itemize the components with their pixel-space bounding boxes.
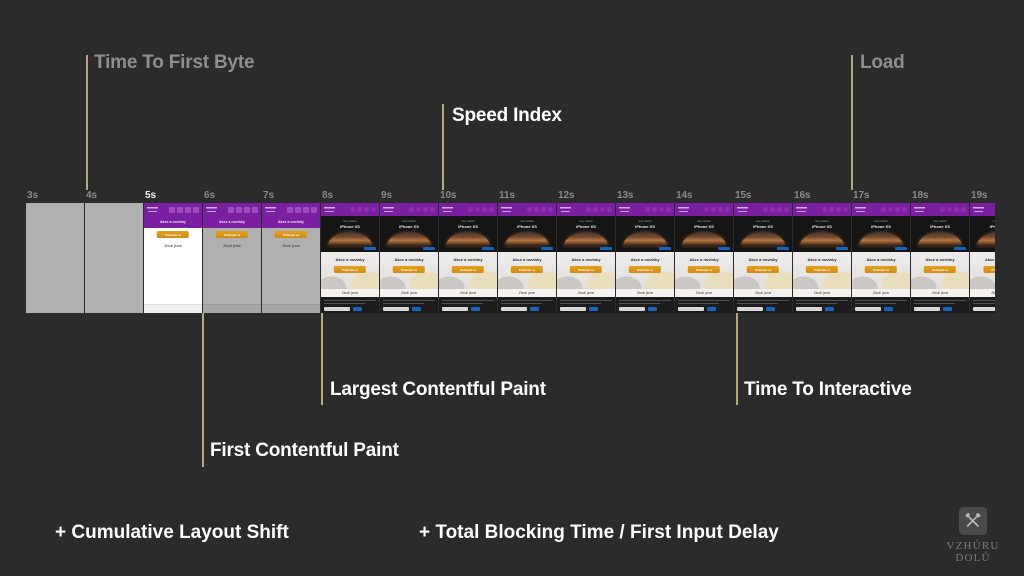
filmstrip-frame-19s[interactable]: nový telefoniPhone XSAkce a novinkyPodív… xyxy=(970,203,995,313)
mini-hero-title: iPhone XS xyxy=(498,224,556,229)
mini-promo-headline: Akce a novinky xyxy=(321,257,379,262)
mini-cart-icon xyxy=(777,207,782,212)
mini-navbar xyxy=(203,203,261,216)
mini-user-icon xyxy=(770,207,775,212)
mini-hero-title: iPhone XS xyxy=(734,224,792,229)
mini-cookie-input[interactable] xyxy=(796,307,822,311)
mini-promo-headline: Akce a novinky xyxy=(852,257,910,262)
mini-navbar xyxy=(144,203,202,216)
mini-promo-subline: Zboží jsme xyxy=(852,289,910,297)
mini-promo-button[interactable]: Podívejte se xyxy=(393,266,425,273)
filmstrip-frame-9s[interactable]: nový telefoniPhone XSAkce a novinkyPodív… xyxy=(380,203,439,313)
filmstrip-frame-4s[interactable] xyxy=(85,203,144,313)
mini-menu-icon xyxy=(607,207,612,212)
mini-hero: nový telefoniPhone XS xyxy=(911,216,969,252)
mini-site-logo-icon xyxy=(560,206,571,214)
ruler-tick-15s: 15s xyxy=(735,190,751,201)
mini-promo-block: Akce a novinkyPodívejte seZboží jsme xyxy=(970,252,995,297)
mini-search-icon xyxy=(287,207,293,213)
timeline-ruler: 3s4s5s6s7s8s9s10s11s12s13s14s15s16s17s18… xyxy=(0,190,1024,204)
marker-line-si xyxy=(442,104,444,190)
mini-promo-button[interactable]: Podívejte se xyxy=(452,266,484,273)
mini-search-icon xyxy=(468,207,473,212)
mini-promo-headline: Akce a novinky xyxy=(675,257,733,262)
mini-promo-button[interactable]: Podívejte se xyxy=(747,266,779,273)
mini-menu-icon xyxy=(548,207,553,212)
mini-promo-subline: Zboží jsme xyxy=(675,289,733,297)
mini-promo-subline: Zboží jsme xyxy=(911,289,969,297)
mini-navbar xyxy=(734,203,792,216)
ruler-tick-3s: 3s xyxy=(27,190,38,201)
mini-hero-kicker: nový telefon xyxy=(793,220,851,223)
mini-menu-icon xyxy=(371,207,376,212)
mini-navbar xyxy=(498,203,556,216)
mini-user-icon xyxy=(593,207,598,212)
mini-hero-cta-button[interactable] xyxy=(718,247,730,251)
marker-line-lcp xyxy=(321,313,323,405)
mini-hero: nový telefoniPhone XS xyxy=(970,216,995,252)
mini-search-icon xyxy=(228,207,234,213)
mini-hero-product-image xyxy=(741,232,785,246)
mini-hero-cta-button[interactable] xyxy=(482,247,494,251)
mini-promo-block: Akce a novinkyPodívejte seZboží jsme xyxy=(852,252,910,297)
mini-hero-product-image xyxy=(564,232,608,246)
filmstrip-frame-18s[interactable]: nový telefoniPhone XSAkce a novinkyPodív… xyxy=(911,203,970,313)
mini-promo-block: Akce a novinkyPodívejte seZboží jsme xyxy=(616,252,674,297)
filmstrip-frame-8s[interactable]: nový telefoniPhone XSAkce a novinkyPodív… xyxy=(321,203,380,313)
mini-hero-title: iPhone XS xyxy=(380,224,438,229)
annotation-label-ttfb: Time To First Byte xyxy=(94,52,254,74)
filmstrip-frame-3s[interactable] xyxy=(26,203,85,313)
mini-cookie-input[interactable] xyxy=(560,307,586,311)
mini-hero-title: iPhone XS xyxy=(557,224,615,229)
mini-promo-headline: Akce a novinky xyxy=(734,257,792,262)
mini-cart-icon xyxy=(303,207,309,213)
mini-promo-subline: Zboží jsme xyxy=(793,289,851,297)
mini-cart-icon xyxy=(185,207,191,213)
mini-cookie-ok-button[interactable] xyxy=(884,307,893,311)
mini-user-icon xyxy=(416,207,421,212)
mini-navbar xyxy=(970,203,995,216)
mini-menu-icon xyxy=(666,207,671,212)
mini-page-footer xyxy=(262,304,320,313)
mini-nav-icons xyxy=(228,207,258,213)
mini-nav-icons xyxy=(409,207,435,212)
mini-menu-icon xyxy=(193,207,199,213)
mini-cookie-input[interactable] xyxy=(737,307,763,311)
mini-nav-icons xyxy=(350,207,376,212)
mini-search-icon xyxy=(822,207,827,212)
ruler-tick-18s: 18s xyxy=(912,190,928,201)
mini-hero-kicker: nový telefon xyxy=(557,220,615,223)
mini-site-logo-icon xyxy=(501,206,512,214)
ruler-tick-13s: 13s xyxy=(617,190,633,201)
mini-cookie-ok-button[interactable] xyxy=(825,307,834,311)
filmstrip[interactable]: Akce a novinkyPodívejte seZboží jsmeAkce… xyxy=(26,203,995,313)
mini-site-logo-icon xyxy=(737,206,748,214)
mini-promo-button[interactable]: Podívejte se xyxy=(924,266,956,273)
ruler-tick-19s: 19s xyxy=(971,190,987,201)
mini-hero-product-image xyxy=(859,232,903,246)
mini-hero-product-image xyxy=(505,232,549,246)
mini-navbar xyxy=(439,203,497,216)
filmstrip-frame-14s[interactable]: nový telefoniPhone XSAkce a novinkyPodív… xyxy=(675,203,734,313)
mini-hero-kicker: nový telefon xyxy=(734,220,792,223)
mini-site-logo-icon xyxy=(914,206,925,214)
mini-nav-icons xyxy=(468,207,494,212)
mini-nav-icons xyxy=(704,207,730,212)
mini-menu-icon xyxy=(430,207,435,212)
mini-navbar xyxy=(793,203,851,216)
mini-site-logo-icon xyxy=(442,206,453,214)
mini-user-icon xyxy=(295,207,301,213)
mini-cookie-input[interactable] xyxy=(855,307,881,311)
mini-cookie-bar xyxy=(911,297,969,313)
mini-cookie-bar xyxy=(380,297,438,313)
filmstrip-frame-12s[interactable]: nový telefoniPhone XSAkce a novinkyPodív… xyxy=(557,203,616,313)
mini-cookie-input[interactable] xyxy=(324,307,350,311)
mini-search-icon xyxy=(350,207,355,212)
mini-navbar xyxy=(380,203,438,216)
mini-user-icon xyxy=(947,207,952,212)
mini-hero-title: iPhone XS xyxy=(911,224,969,229)
filmstrip-frame-16s[interactable]: nový telefoniPhone XSAkce a novinkyPodív… xyxy=(793,203,852,313)
annotation-label-lcp: Largest Contentful Paint xyxy=(330,379,546,401)
mini-navbar xyxy=(675,203,733,216)
mini-cookie-bar xyxy=(557,297,615,313)
filmstrip-frame-17s[interactable]: nový telefoniPhone XSAkce a novinkyPodív… xyxy=(852,203,911,313)
mini-nav-icons xyxy=(527,207,553,212)
mini-promo-block: Akce a novinkyPodívejte seZboží jsme xyxy=(675,252,733,297)
filmstrip-frame-15s[interactable]: nový telefoniPhone XSAkce a novinkyPodív… xyxy=(734,203,793,313)
mini-site-logo-icon xyxy=(973,206,984,214)
mini-hero-cta-button[interactable] xyxy=(954,247,966,251)
mini-cookie-ok-button[interactable] xyxy=(471,307,480,311)
mini-promo-button[interactable]: Podívejte se xyxy=(983,266,995,273)
mini-search-icon xyxy=(940,207,945,212)
mini-search-icon xyxy=(704,207,709,212)
mini-nav-icons xyxy=(169,207,199,213)
marker-line-tti xyxy=(736,313,738,405)
mini-promo-block: Akce a novinkyPodívejte seZboží jsme xyxy=(321,252,379,297)
mini-promo-subline: Zboží jsme xyxy=(321,289,379,297)
annotation-label-si: Speed Index xyxy=(452,105,562,127)
mini-menu-icon xyxy=(902,207,907,212)
mini-cookie-input[interactable] xyxy=(501,307,527,311)
mini-promo-headline: Akce a novinky xyxy=(616,257,674,262)
mini-search-icon xyxy=(527,207,532,212)
filmstrip-frame-5s[interactable]: Akce a novinkyPodívejte seZboží jsme xyxy=(144,203,203,313)
mini-site-logo-icon xyxy=(206,206,217,214)
ruler-tick-12s: 12s xyxy=(558,190,574,201)
mini-hero-cta-button[interactable] xyxy=(423,247,435,251)
filmstrip-frame-7s[interactable]: Akce a novinkyPodívejte seZboží jsme xyxy=(262,203,321,313)
mini-user-icon xyxy=(888,207,893,212)
mini-hero-kicker: nový telefon xyxy=(616,220,674,223)
mini-hero-kicker: nový telefon xyxy=(321,220,379,223)
annotation-label-load: Load xyxy=(860,52,905,74)
mini-cookie-bar xyxy=(616,297,674,313)
ruler-tick-16s: 16s xyxy=(794,190,810,201)
ruler-tick-6s: 6s xyxy=(204,190,215,201)
mini-cookie-ok-button[interactable] xyxy=(648,307,657,311)
mini-hero-product-image xyxy=(977,232,995,246)
mini-cart-icon xyxy=(895,207,900,212)
marker-line-load xyxy=(851,55,853,190)
note-cls: + Cumulative Layout Shift xyxy=(55,522,289,544)
mini-cart-icon xyxy=(954,207,959,212)
mini-cart-icon xyxy=(718,207,723,212)
annotation-label-fcp: First Contentful Paint xyxy=(210,440,399,462)
mini-promo-headline: Akce a novinky xyxy=(793,257,851,262)
mini-user-icon xyxy=(475,207,480,212)
mini-navbar xyxy=(557,203,615,216)
mini-promo-button[interactable]: Podívejte se xyxy=(806,266,838,273)
mini-promo-headline: Akce a novinky xyxy=(970,257,995,262)
marker-line-ttfb xyxy=(86,55,88,190)
mini-promo-subline: Zboží jsme xyxy=(380,289,438,297)
mini-promo-subline: Zboží jsme xyxy=(144,244,202,248)
mini-hero-cta-button[interactable] xyxy=(600,247,612,251)
mini-promo-headline: Akce a novinky xyxy=(439,257,497,262)
mini-hero-title: iPhone XS xyxy=(675,224,733,229)
mini-user-icon xyxy=(357,207,362,212)
mini-site-logo-icon xyxy=(147,206,158,214)
mini-search-icon xyxy=(763,207,768,212)
mini-promo-headline: Akce a novinky xyxy=(557,257,615,262)
mini-promo-button[interactable]: Podívejte se xyxy=(629,266,661,273)
mini-page-footer xyxy=(144,304,202,313)
mini-hero-product-image xyxy=(328,232,372,246)
filmstrip-frame-13s[interactable]: nový telefoniPhone XSAkce a novinkyPodív… xyxy=(616,203,675,313)
mini-navbar xyxy=(262,203,320,216)
mini-promo-subline: Zboží jsme xyxy=(262,244,320,248)
mini-promo-block: Akce a novinkyPodívejte seZboží jsme xyxy=(439,252,497,297)
mini-promo-headline: Akce a novinky xyxy=(380,257,438,262)
mini-cookie-bar xyxy=(970,297,995,313)
mini-cookie-ok-button[interactable] xyxy=(530,307,539,311)
mini-promo-subline: Zboží jsme xyxy=(970,289,995,297)
mini-cart-icon xyxy=(364,207,369,212)
mini-hero-cta-button[interactable] xyxy=(895,247,907,251)
mini-hero-product-image xyxy=(800,232,844,246)
logo-text-line2: DOLŮ xyxy=(938,552,1008,564)
mini-hero: nový telefoniPhone XS xyxy=(675,216,733,252)
mini-cart-icon xyxy=(244,207,250,213)
mini-promo-block: Akce a novinkyPodívejte seZboží jsme xyxy=(380,252,438,297)
mini-page-body: Podívejte seZboží jsme xyxy=(144,228,202,313)
slide-canvas: Time To First ByteSpeed IndexLoadFirst C… xyxy=(0,0,1024,576)
mini-promo-subline: Zboží jsme xyxy=(439,289,497,297)
mini-site-logo-icon xyxy=(855,206,866,214)
ruler-tick-9s: 9s xyxy=(381,190,392,201)
mini-navbar xyxy=(616,203,674,216)
mini-navbar xyxy=(852,203,910,216)
mini-hero-product-image xyxy=(623,232,667,246)
mini-hero-title: iPhone XS xyxy=(970,224,995,229)
mini-promo-block: Akce a novinkyPodívejte seZboží jsme xyxy=(793,252,851,297)
mini-cookie-bar xyxy=(498,297,556,313)
ruler-tick-5s: 5s xyxy=(145,190,156,201)
mini-hero-cta-button[interactable] xyxy=(364,247,376,251)
mini-cookie-bar xyxy=(675,297,733,313)
mini-cookie-ok-button[interactable] xyxy=(353,307,362,311)
mini-hero-cta-button[interactable] xyxy=(836,247,848,251)
mini-nav-icons xyxy=(763,207,789,212)
mini-hero: nový telefoniPhone XS xyxy=(734,216,792,252)
mini-site-logo-icon xyxy=(619,206,630,214)
mini-promo-button[interactable]: Podívejte se xyxy=(157,231,189,238)
mini-user-icon xyxy=(534,207,539,212)
mini-cart-icon xyxy=(482,207,487,212)
mini-hero-cta-button[interactable] xyxy=(777,247,789,251)
mini-cart-icon xyxy=(836,207,841,212)
mini-promo-button[interactable]: Podívejte se xyxy=(511,266,543,273)
mini-promo-subline: Zboží jsme xyxy=(557,289,615,297)
mini-promo-subline: Zboží jsme xyxy=(734,289,792,297)
mini-promo-headline: Akce a novinky xyxy=(911,257,969,262)
mini-hero: nový telefoniPhone XS xyxy=(439,216,497,252)
mini-promo-button[interactable]: Podívejte se xyxy=(275,231,307,238)
mini-cookie-input[interactable] xyxy=(914,307,940,311)
mini-site-logo-icon xyxy=(796,206,807,214)
ruler-tick-8s: 8s xyxy=(322,190,333,201)
filmstrip-frame-10s[interactable]: nový telefoniPhone XSAkce a novinkyPodív… xyxy=(439,203,498,313)
mini-user-icon xyxy=(177,207,183,213)
mini-promo-button[interactable]: Podívejte se xyxy=(570,266,602,273)
mini-menu-icon xyxy=(311,207,317,213)
marker-line-fcp xyxy=(202,313,204,467)
mini-cookie-input[interactable] xyxy=(678,307,704,311)
mini-hero: nový telefoniPhone XS xyxy=(616,216,674,252)
mini-hero-title: iPhone XS xyxy=(852,224,910,229)
mini-promo-band: Akce a novinky xyxy=(144,216,202,228)
mini-hero: nový telefoniPhone XS xyxy=(380,216,438,252)
mini-promo-subline: Zboží jsme xyxy=(203,244,261,248)
mini-cart-icon xyxy=(600,207,605,212)
mini-promo-band: Akce a novinky xyxy=(203,216,261,228)
mini-cookie-bar xyxy=(439,297,497,313)
mini-hero-kicker: nový telefon xyxy=(911,220,969,223)
mini-promo-button[interactable]: Podívejte se xyxy=(865,266,897,273)
mini-cookie-bar xyxy=(321,297,379,313)
mini-hero-cta-button[interactable] xyxy=(659,247,671,251)
mini-user-icon xyxy=(711,207,716,212)
mini-page-footer xyxy=(203,304,261,313)
mini-cart-icon xyxy=(659,207,664,212)
mini-cookie-ok-button[interactable] xyxy=(412,307,421,311)
mini-promo-button[interactable]: Podívejte se xyxy=(216,231,248,238)
mini-promo-block: Akce a novinkyPodívejte seZboží jsme xyxy=(557,252,615,297)
mini-site-logo-icon xyxy=(678,206,689,214)
mini-hero-kicker: nový telefon xyxy=(675,220,733,223)
mini-nav-icons xyxy=(881,207,907,212)
mini-hero-cta-button[interactable] xyxy=(541,247,553,251)
ruler-tick-10s: 10s xyxy=(440,190,456,201)
ruler-tick-11s: 11s xyxy=(499,190,515,201)
note-tbt: + Total Blocking Time / First Input Dela… xyxy=(419,522,779,544)
mini-cookie-input[interactable] xyxy=(973,307,995,311)
mini-page-body: Podívejte seZboží jsme xyxy=(203,228,261,313)
mini-hero-title: iPhone XS xyxy=(439,224,497,229)
mini-menu-icon xyxy=(252,207,258,213)
mini-hero-product-image xyxy=(387,232,431,246)
ruler-tick-14s: 14s xyxy=(676,190,692,201)
mini-promo-subline: Zboží jsme xyxy=(498,289,556,297)
mini-hero-kicker: nový telefon xyxy=(439,220,497,223)
mini-page-body: Podívejte seZboží jsme xyxy=(262,228,320,313)
mini-hero-product-image xyxy=(682,232,726,246)
annotation-label-tti: Time To Interactive xyxy=(744,379,912,401)
mini-site-logo-icon xyxy=(383,206,394,214)
mini-cookie-ok-button[interactable] xyxy=(707,307,716,311)
mini-cart-icon xyxy=(423,207,428,212)
mini-cookie-bar xyxy=(734,297,792,313)
ruler-tick-4s: 4s xyxy=(86,190,97,201)
mini-cookie-ok-button[interactable] xyxy=(589,307,598,311)
mini-promo-subline: Zboží jsme xyxy=(616,289,674,297)
mini-hero-title: iPhone XS xyxy=(616,224,674,229)
filmstrip-frame-11s[interactable]: nový telefoniPhone XSAkce a novinkyPodív… xyxy=(498,203,557,313)
mini-hero-kicker: nový telefon xyxy=(970,220,995,223)
mini-site-logo-icon xyxy=(265,206,276,214)
mini-menu-icon xyxy=(784,207,789,212)
mini-nav-icons xyxy=(822,207,848,212)
mini-user-icon xyxy=(652,207,657,212)
mini-user-icon xyxy=(829,207,834,212)
mini-cookie-input[interactable] xyxy=(383,307,409,311)
mini-hero-title: iPhone XS xyxy=(321,224,379,229)
mini-nav-icons xyxy=(940,207,966,212)
mini-promo-block: Akce a novinkyPodívejte seZboží jsme xyxy=(911,252,969,297)
mini-cookie-bar xyxy=(852,297,910,313)
mini-promo-block: Akce a novinkyPodívejte seZboží jsme xyxy=(498,252,556,297)
mini-menu-icon xyxy=(725,207,730,212)
mini-promo-block: Akce a novinkyPodívejte seZboží jsme xyxy=(734,252,792,297)
mini-hero-product-image xyxy=(918,232,962,246)
mini-hero-title: iPhone XS xyxy=(793,224,851,229)
brand-logo: VZHŮRU DOLŮ xyxy=(938,507,1008,564)
crossed-hammers-icon xyxy=(959,507,987,535)
mini-promo-button[interactable]: Podívejte se xyxy=(688,266,720,273)
mini-promo-band: Akce a novinky xyxy=(262,216,320,228)
ruler-tick-7s: 7s xyxy=(263,190,274,201)
mini-navbar xyxy=(321,203,379,216)
mini-hero-kicker: nový telefon xyxy=(498,220,556,223)
mini-hero-product-image xyxy=(446,232,490,246)
mini-search-icon xyxy=(881,207,886,212)
mini-hero: nový telefoniPhone XS xyxy=(321,216,379,252)
mini-hero: nový telefoniPhone XS xyxy=(498,216,556,252)
filmstrip-frame-6s[interactable]: Akce a novinkyPodívejte seZboží jsme xyxy=(203,203,262,313)
mini-search-icon xyxy=(409,207,414,212)
mini-cookie-input[interactable] xyxy=(442,307,468,311)
mini-cookie-input[interactable] xyxy=(619,307,645,311)
mini-cookie-ok-button[interactable] xyxy=(766,307,775,311)
mini-nav-icons xyxy=(287,207,317,213)
mini-promo-button[interactable]: Podívejte se xyxy=(334,266,366,273)
mini-cart-icon xyxy=(541,207,546,212)
mini-menu-icon xyxy=(961,207,966,212)
mini-user-icon xyxy=(236,207,242,213)
mini-hero: nový telefoniPhone XS xyxy=(557,216,615,252)
mini-hero-kicker: nový telefon xyxy=(380,220,438,223)
mini-nav-icons xyxy=(586,207,612,212)
mini-search-icon xyxy=(169,207,175,213)
mini-nav-icons xyxy=(645,207,671,212)
mini-cookie-ok-button[interactable] xyxy=(943,307,952,311)
mini-hero-kicker: nový telefon xyxy=(852,220,910,223)
